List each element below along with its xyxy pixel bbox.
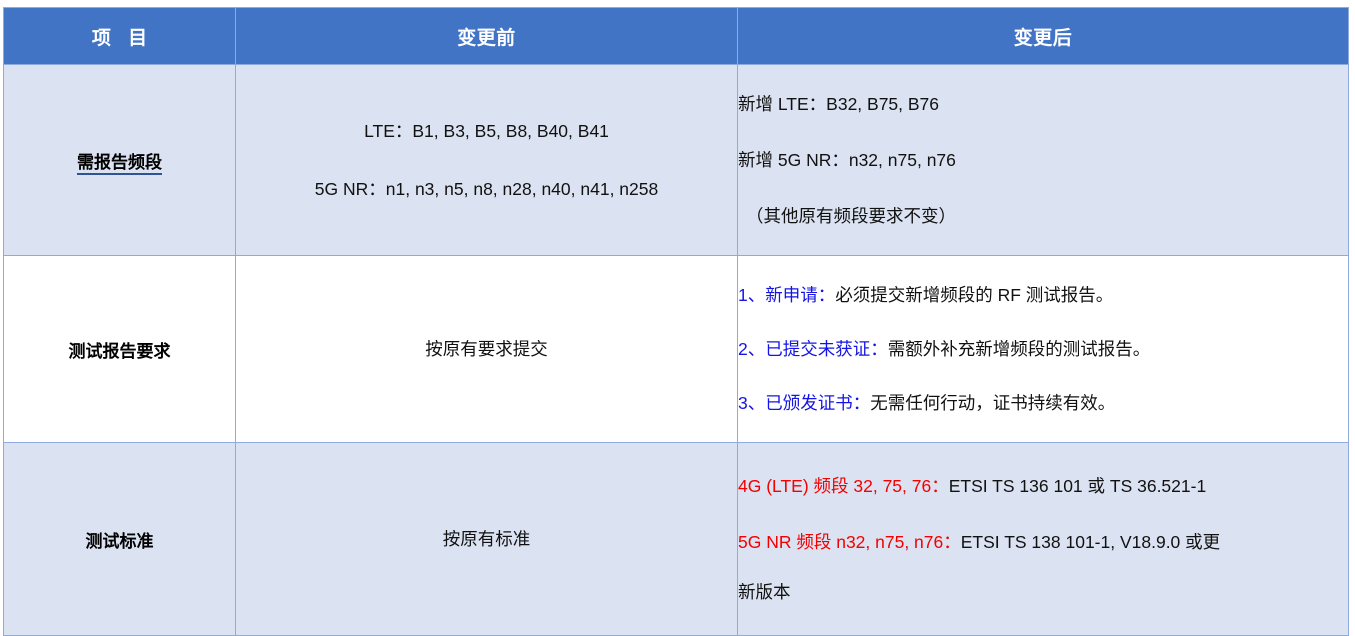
report-after-item-1-key: 1、新申请： <box>738 285 835 305</box>
row-label-report-requirements-text: 测试报告要求 <box>69 342 171 361</box>
report-after-item-3-key: 3、已颁发证书： <box>738 393 870 413</box>
row-standards-before: 按原有标准 <box>236 443 738 636</box>
report-after-item-2-text: 需额外补充新增频段的测试报告。 <box>888 339 1151 359</box>
report-after-item-3-text: 无需任何行动，证书持续有效。 <box>870 393 1115 413</box>
column-header-before: 变更前 <box>236 8 738 65</box>
column-header-after: 变更后 <box>738 8 1349 65</box>
bands-after-nr: 新增 5G NR：n32, n75, n76 <box>738 150 1348 170</box>
row-label-bands: 需报告频段 <box>4 65 236 256</box>
column-header-item: 项 目 <box>4 8 236 65</box>
table-row-test-standards: 测试标准 按原有标准 4G (LTE) 频段 32, 75, 76：ETSI T… <box>4 443 1349 636</box>
report-after-item-1: 1、新申请：必须提交新增频段的 RF 测试报告。 <box>738 285 1348 305</box>
standards-after-item-1-text: ETSI TS 136 101 或 TS 36.521-1 <box>949 476 1206 496</box>
spacer <box>236 141 737 179</box>
report-after-item-2-key: 2、已提交未获证： <box>738 339 888 359</box>
row-bands-after: 新增 LTE：B32, B75, B76 新增 5G NR：n32, n75, … <box>738 65 1349 256</box>
standards-after-item-2-wrap: 新版本 <box>738 582 1348 602</box>
row-bands-before: LTE：B1, B3, B5, B8, B40, B41 5G NR：n1, n… <box>236 65 738 256</box>
bands-before-nr: 5G NR：n1, n3, n5, n8, n28, n40, n41, n25… <box>236 179 737 199</box>
report-before-text: 按原有要求提交 <box>236 339 737 359</box>
row-label-bands-text: 需报告频段 <box>77 153 162 175</box>
report-after-item-3: 3、已颁发证书：无需任何行动，证书持续有效。 <box>738 393 1348 413</box>
comparison-table: 项 目 变更前 变更后 需报告频段 LTE：B1, B3, B5, B8, B4… <box>3 7 1349 636</box>
report-after-item-2: 2、已提交未获证：需额外补充新增频段的测试报告。 <box>738 339 1348 359</box>
header-row: 项 目 变更前 变更后 <box>4 8 1349 65</box>
row-label-test-standards: 测试标准 <box>4 443 236 636</box>
standards-after-item-2-key: 5G NR 频段 n32, n75, n76： <box>738 532 961 552</box>
row-standards-after: 4G (LTE) 频段 32, 75, 76：ETSI TS 136 101 或… <box>738 443 1349 636</box>
page-root: 项 目 变更前 变更后 需报告频段 LTE：B1, B3, B5, B8, B4… <box>0 0 1355 636</box>
standards-after-item-2: 5G NR 频段 n32, n75, n76：ETSI TS 138 101-1… <box>738 532 1348 552</box>
table-header: 项 目 变更前 变更后 <box>4 8 1349 65</box>
bands-after-note: （其他原有频段要求不变） <box>738 206 1348 226</box>
row-label-test-standards-text: 测试标准 <box>86 532 154 551</box>
standards-after-item-1: 4G (LTE) 频段 32, 75, 76：ETSI TS 136 101 或… <box>738 476 1348 496</box>
table-row-report-requirements: 测试报告要求 按原有要求提交 1、新申请：必须提交新增频段的 RF 测试报告。 … <box>4 256 1349 443</box>
row-label-report-requirements: 测试报告要求 <box>4 256 236 443</box>
row-report-before: 按原有要求提交 <box>236 256 738 443</box>
standards-before-text: 按原有标准 <box>236 529 737 549</box>
bands-after-lte: 新增 LTE：B32, B75, B76 <box>738 94 1348 114</box>
standards-after-item-1-key: 4G (LTE) 频段 32, 75, 76： <box>738 476 949 496</box>
table-body: 需报告频段 LTE：B1, B3, B5, B8, B40, B41 5G NR… <box>4 65 1349 636</box>
row-report-after: 1、新申请：必须提交新增频段的 RF 测试报告。 2、已提交未获证：需额外补充新… <box>738 256 1349 443</box>
bands-before-lte: LTE：B1, B3, B5, B8, B40, B41 <box>236 121 737 141</box>
standards-after-item-2-text: ETSI TS 138 101-1, V18.9.0 或更 <box>961 532 1220 552</box>
table-row-bands: 需报告频段 LTE：B1, B3, B5, B8, B40, B41 5G NR… <box>4 65 1349 256</box>
report-after-item-1-text: 必须提交新增频段的 RF 测试报告。 <box>835 285 1113 305</box>
